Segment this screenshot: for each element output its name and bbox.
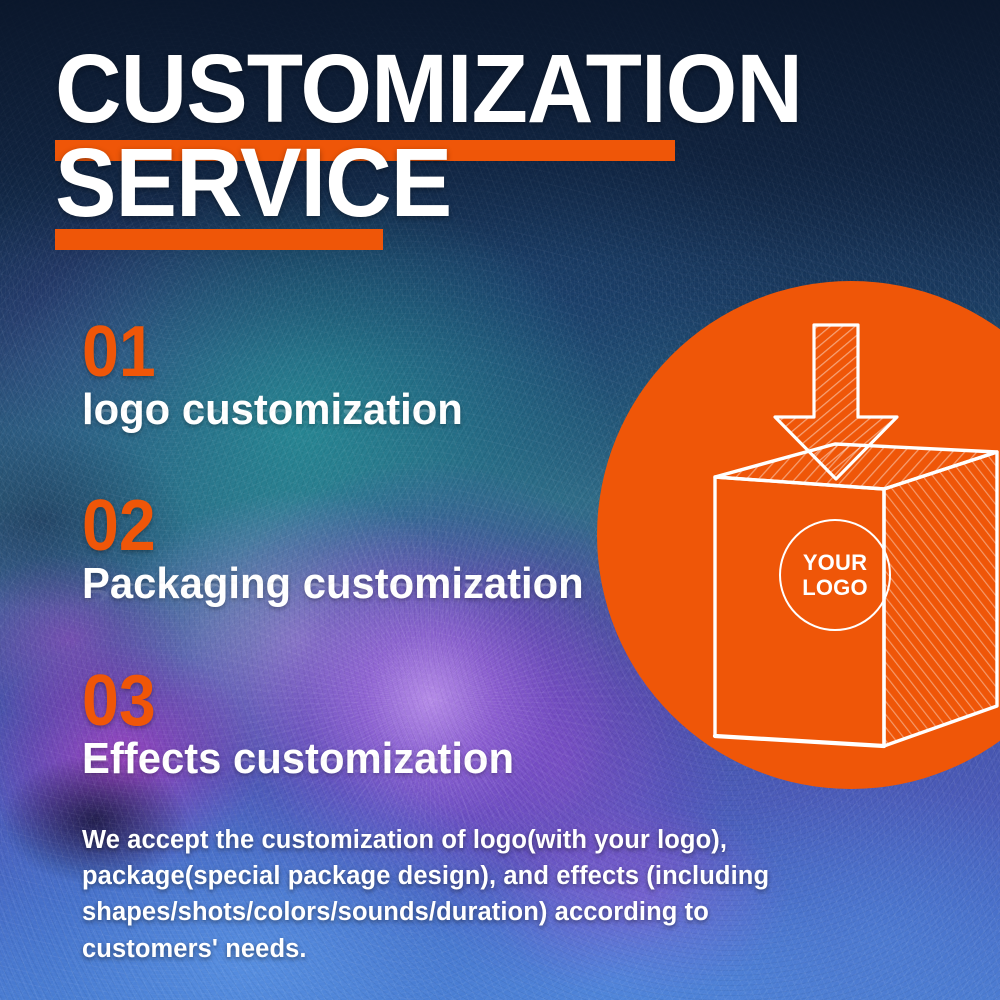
service-number-01: 01 bbox=[82, 323, 451, 382]
description-text: We accept the customization of logo(with… bbox=[82, 822, 842, 967]
logo-placeholder-circle-icon: YOUR LOGO bbox=[779, 519, 891, 631]
service-label-02-reflection: Packaging customization bbox=[82, 579, 584, 606]
logo-badge-line-1: YOUR bbox=[803, 551, 867, 574]
headline-line-2: SERVICE bbox=[55, 138, 720, 228]
service-label-03: Effects customizationEffects customizati… bbox=[82, 737, 514, 781]
service-label-02: Packaging customizationPackaging customi… bbox=[82, 562, 584, 606]
service-item-03: 03 Effects customizationEffects customiz… bbox=[82, 672, 537, 781]
headline-line-1-row: CUSTOMIZATION bbox=[55, 44, 755, 134]
service-label-01: logo customizationlogo customization bbox=[82, 388, 463, 432]
service-label-01-reflection: logo customization bbox=[82, 405, 463, 432]
box-right-face bbox=[884, 452, 997, 746]
service-item-02: 02 Packaging customizationPackaging cust… bbox=[82, 497, 610, 606]
service-label-03-reflection: Effects customization bbox=[82, 754, 514, 781]
service-number-03: 03 bbox=[82, 672, 500, 731]
box-bottom-edge bbox=[715, 736, 884, 746]
headline-block: CUSTOMIZATION SERVICE bbox=[55, 44, 755, 228]
logo-badge-line-2: LOGO bbox=[802, 576, 868, 599]
headline-line-2-row: SERVICE bbox=[55, 138, 755, 228]
headline-line-1: CUSTOMIZATION bbox=[55, 44, 720, 134]
service-number-02: 02 bbox=[82, 497, 568, 556]
description-paragraph: We accept the customization of logo(with… bbox=[82, 822, 842, 967]
customization-service-poster: CUSTOMIZATION SERVICE 01 logo customizat… bbox=[0, 0, 1000, 1000]
service-item-01: 01 logo customizationlogo customization bbox=[82, 323, 483, 432]
